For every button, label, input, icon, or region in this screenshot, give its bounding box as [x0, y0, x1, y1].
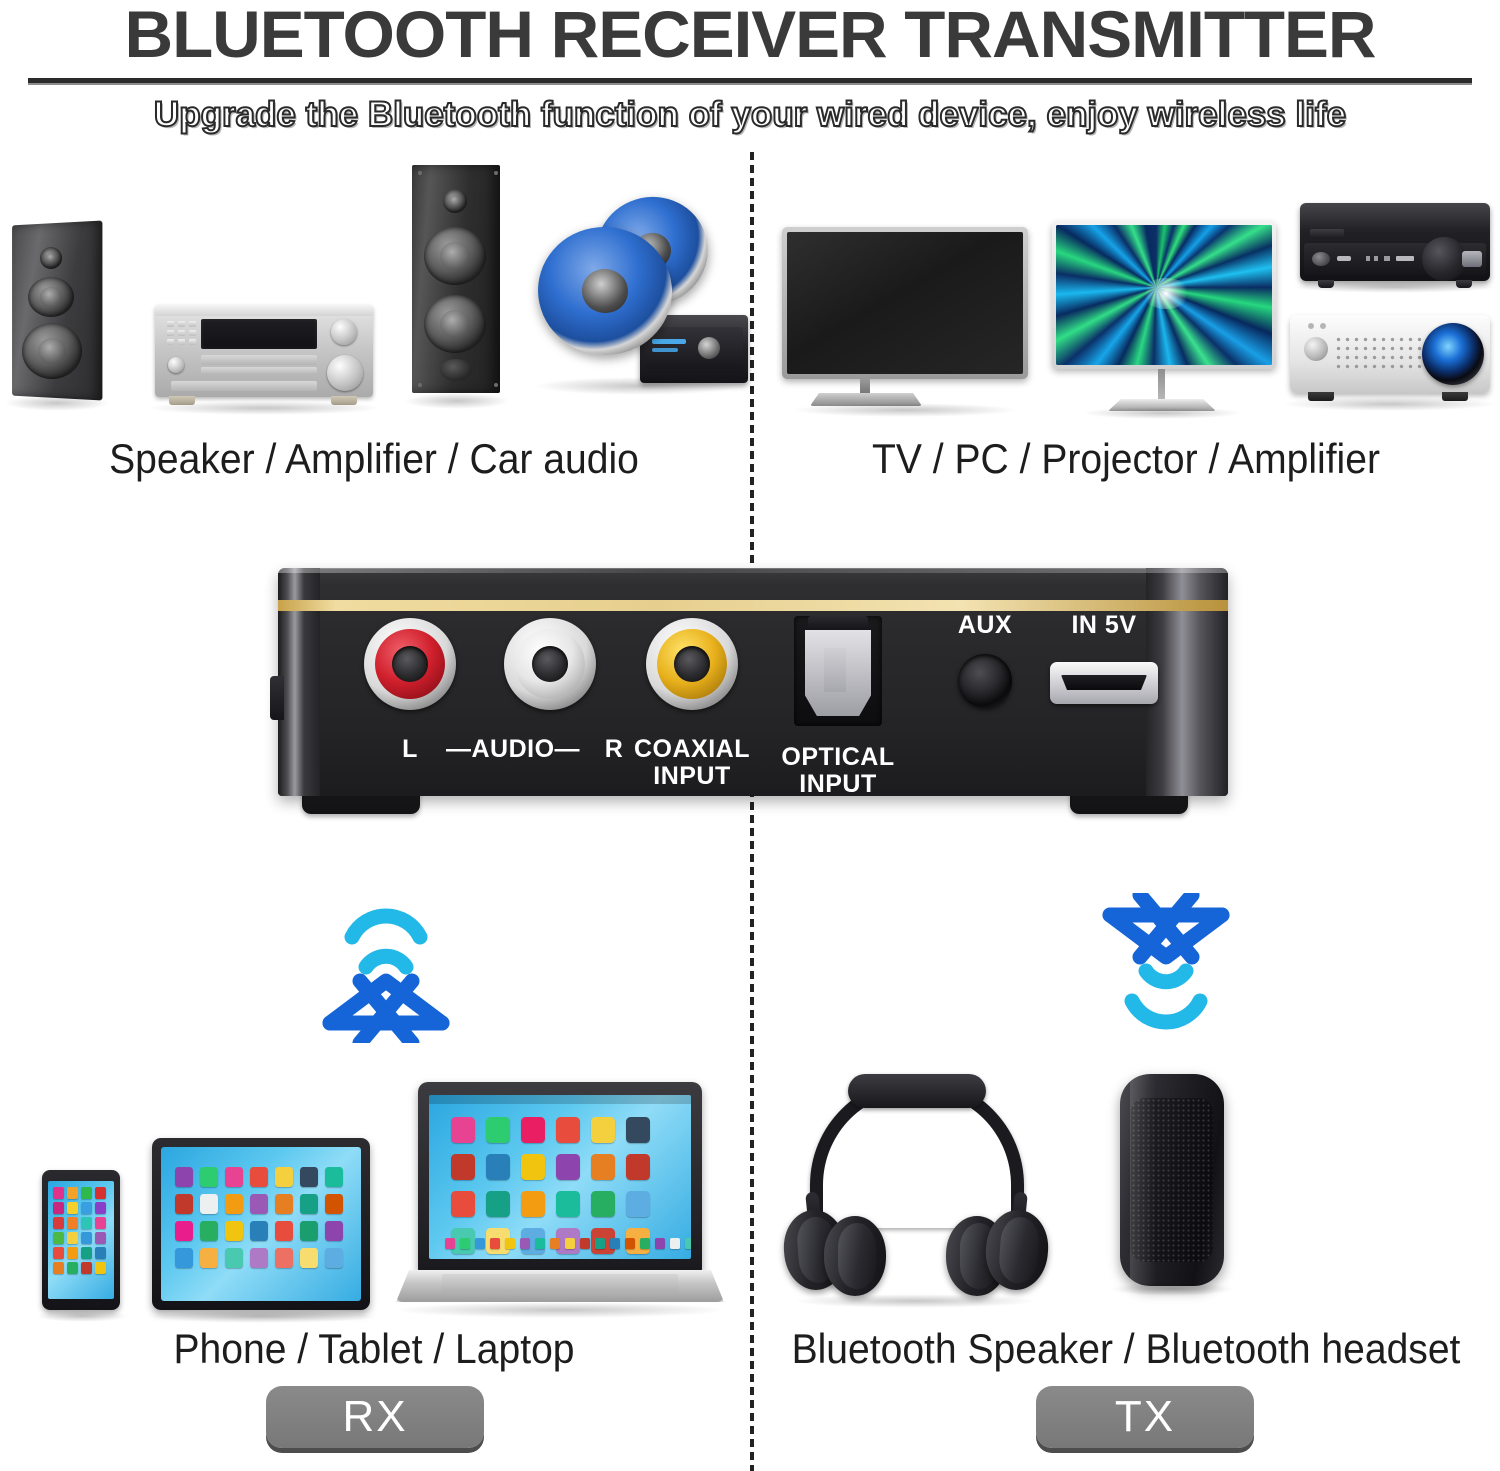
- tx-target-devices-group: [752, 1060, 1500, 1322]
- caption-rx-targets: Phone / Tablet / Laptop: [26, 1325, 722, 1373]
- rca-jack-left-audio[interactable]: [364, 618, 456, 710]
- bluetooth-transmit-icon: [1096, 893, 1236, 1043]
- device-gold-stripe: [278, 600, 1228, 611]
- source-devices-audio-group: [0, 155, 748, 430]
- label-coaxial-line2: INPUT: [612, 763, 772, 790]
- title-divider-rule: [28, 78, 1472, 85]
- page-title: BLUETOOTH RECEIVER TRANSMITTER: [0, 0, 1500, 72]
- label-coaxial-line1: COAXIAL: [612, 736, 772, 763]
- status-badge-tx: TX: [1036, 1386, 1254, 1448]
- rca-jack-coaxial-input[interactable]: [646, 618, 738, 710]
- source-devices-video-group: [752, 155, 1500, 430]
- label-optical-line2: INPUT: [758, 771, 918, 798]
- device-top-highlight: [278, 568, 1228, 573]
- status-badge-rx: RX: [266, 1386, 484, 1448]
- caption-source-video: TV / PC / Projector / Amplifier: [778, 435, 1474, 483]
- micro-usb-power-port[interactable]: [1050, 662, 1158, 704]
- page-subtitle: Upgrade the Bluetooth function of your w…: [0, 95, 1500, 135]
- device-side-button[interactable]: [270, 676, 284, 720]
- label-audio-center: —AUDIO—: [426, 736, 600, 763]
- optical-toslink-port[interactable]: [794, 616, 882, 726]
- header-banner: BLUETOOTH RECEIVER TRANSMITTER Upgrade t…: [0, 0, 1500, 150]
- bluetooth-adapter-device: L —AUDIO— R COAXIAL INPUT OPTICAL INPUT …: [258, 558, 1242, 826]
- caption-source-audio: Speaker / Amplifier / Car audio: [26, 435, 722, 483]
- bluetooth-receive-icon: [316, 893, 456, 1043]
- label-power-in: IN 5V: [1048, 612, 1160, 639]
- label-optical-line1: OPTICAL: [758, 744, 918, 771]
- label-aux: AUX: [930, 612, 1040, 639]
- aux-35mm-jack[interactable]: [958, 654, 1012, 708]
- rca-jack-right-audio[interactable]: [504, 618, 596, 710]
- caption-tx-targets: Bluetooth Speaker / Bluetooth headset: [778, 1325, 1474, 1373]
- rx-target-devices-group: [0, 1060, 748, 1322]
